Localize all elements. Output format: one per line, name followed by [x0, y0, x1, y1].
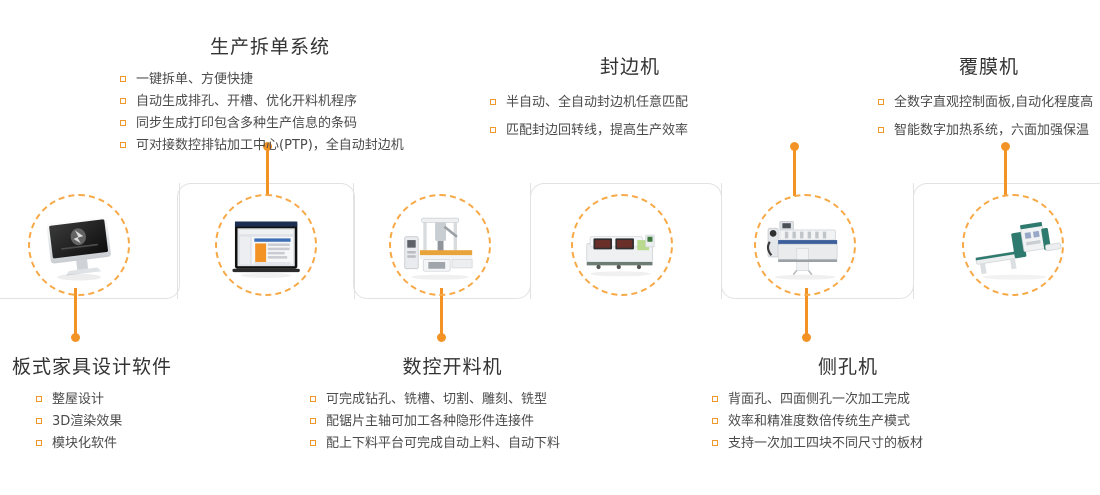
side-drill-icon: [763, 203, 847, 287]
bullet-item: 配上下料平台可完成自动上料、自动下料: [310, 433, 595, 455]
stage-block-side-hole-drilling-machine: 侧孔机 背面孔、四面侧孔一次加工完成 效率和精准度数倍传统生产模式 支持一次加工…: [712, 356, 984, 455]
checkbox-bullet-icon: [712, 418, 718, 424]
stage-bullet-list: 可完成钻孔、铣槽、切割、雕刻、铣型 配锯片主轴可加工各种隐形件连接件 配上下料平…: [310, 389, 595, 455]
checkbox-bullet-icon: [120, 142, 126, 148]
checkbox-bullet-icon: [36, 396, 42, 402]
stage-title: 封边机: [490, 56, 770, 80]
stage-title: 板式家具设计软件: [12, 356, 262, 380]
bullet-item: 支持一次加工四块不同尺寸的板材: [712, 433, 984, 455]
stage-bullet-list: 背面孔、四面侧孔一次加工完成 效率和精准度数倍传统生产模式 支持一次加工四块不同…: [712, 389, 984, 455]
checkbox-bullet-icon: [120, 98, 126, 104]
process-flow-infographic: 生产拆单系统 一键拆单、方便快捷 自动生成排孔、开槽、优化开料机程序 同步生成打…: [0, 0, 1100, 495]
imac-monitor-icon: [37, 203, 121, 287]
stage-title: 覆膜机: [878, 56, 1100, 80]
checkbox-bullet-icon: [120, 76, 126, 82]
node-edge-banding-machine[interactable]: [571, 194, 673, 296]
stage-block-order-splitting-system: 生产拆单系统 一键拆单、方便快捷 自动生成排孔、开槽、优化开料机程序 同步生成打…: [120, 36, 420, 157]
laminator-icon: [971, 203, 1055, 287]
stage-bullet-list: 半自动、全自动封边机任意匹配 匹配封边回转线，提高生产效率: [490, 89, 770, 145]
node-order-splitting-system[interactable]: [215, 194, 317, 296]
node-side-hole-drilling-machine[interactable]: [754, 194, 856, 296]
node-cnc-cutting-machine[interactable]: [389, 194, 491, 296]
stage-block-laminating-machine: 覆膜机 全数字直观控制面板,自动化程度高 智能数字加热系统，六面加强保温: [878, 56, 1100, 145]
connector-dot: [790, 142, 799, 151]
checkbox-bullet-icon: [310, 440, 316, 446]
checkbox-bullet-icon: [120, 120, 126, 126]
connector-dot: [71, 333, 80, 342]
checkbox-bullet-icon: [36, 418, 42, 424]
bullet-item: 背面孔、四面侧孔一次加工完成: [712, 389, 984, 411]
stage-bullet-list: 全数字直观控制面板,自动化程度高 智能数字加热系统，六面加强保温: [878, 89, 1100, 145]
stage-block-cnc-cutting-machine: 数控开料机 可完成钻孔、铣槽、切割、雕刻、铣型 配锯片主轴可加工各种隐形件连接件…: [310, 356, 595, 455]
connector-stage-4: [793, 146, 796, 196]
stage-title: 生产拆单系统: [120, 36, 420, 60]
bullet-item: 匹配封边回转线，提高生产效率: [490, 117, 770, 145]
bullet-item: 全数字直观控制面板,自动化程度高: [878, 89, 1100, 117]
stage-block-design-software: 板式家具设计软件 整屋设计 3D渲染效果 模块化软件: [12, 356, 262, 455]
connector-dot: [437, 333, 446, 342]
checkbox-bullet-icon: [490, 99, 496, 105]
stage-title: 数控开料机: [310, 356, 595, 380]
bullet-item: 模块化软件: [36, 433, 262, 455]
node-design-software[interactable]: [28, 194, 130, 296]
bullet-item: 配锯片主轴可加工各种隐形件连接件: [310, 411, 595, 433]
checkbox-bullet-icon: [878, 127, 884, 133]
connector-dot: [802, 333, 811, 342]
bullet-item: 3D渲染效果: [36, 411, 262, 433]
bullet-item: 自动生成排孔、开槽、优化开料机程序: [120, 91, 420, 113]
checkbox-bullet-icon: [712, 396, 718, 402]
checkbox-bullet-icon: [712, 440, 718, 446]
laptop-software-icon: [224, 203, 308, 287]
bullet-item: 可对接数控排钻加工中心(PTP)，全自动封边机: [120, 135, 420, 157]
stage-bullet-list: 一键拆单、方便快捷 自动生成排孔、开槽、优化开料机程序 同步生成打印包含多种生产…: [120, 69, 420, 157]
node-laminating-machine[interactable]: [962, 194, 1064, 296]
checkbox-bullet-icon: [310, 418, 316, 424]
stage-block-edge-banding-machine: 封边机 半自动、全自动封边机任意匹配 匹配封边回转线，提高生产效率: [490, 56, 770, 145]
stage-bullet-list: 整屋设计 3D渲染效果 模块化软件: [12, 389, 262, 455]
bullet-item: 同步生成打印包含多种生产信息的条码: [120, 113, 420, 135]
checkbox-bullet-icon: [878, 99, 884, 105]
connector-stage-6: [1004, 146, 1007, 196]
bullet-item: 智能数字加热系统，六面加强保温: [878, 117, 1100, 145]
bullet-item: 一键拆单、方便快捷: [120, 69, 420, 91]
checkbox-bullet-icon: [310, 396, 316, 402]
cnc-router-icon: [398, 203, 482, 287]
bullet-item: 整屋设计: [36, 389, 262, 411]
bullet-item: 可完成钻孔、铣槽、切割、雕刻、铣型: [310, 389, 595, 411]
checkbox-bullet-icon: [36, 440, 42, 446]
bullet-item: 效率和精准度数倍传统生产模式: [712, 411, 984, 433]
stage-title: 侧孔机: [712, 356, 984, 380]
checkbox-bullet-icon: [490, 127, 496, 133]
edge-bander-icon: [580, 203, 664, 287]
bullet-item: 半自动、全自动封边机任意匹配: [490, 89, 770, 117]
